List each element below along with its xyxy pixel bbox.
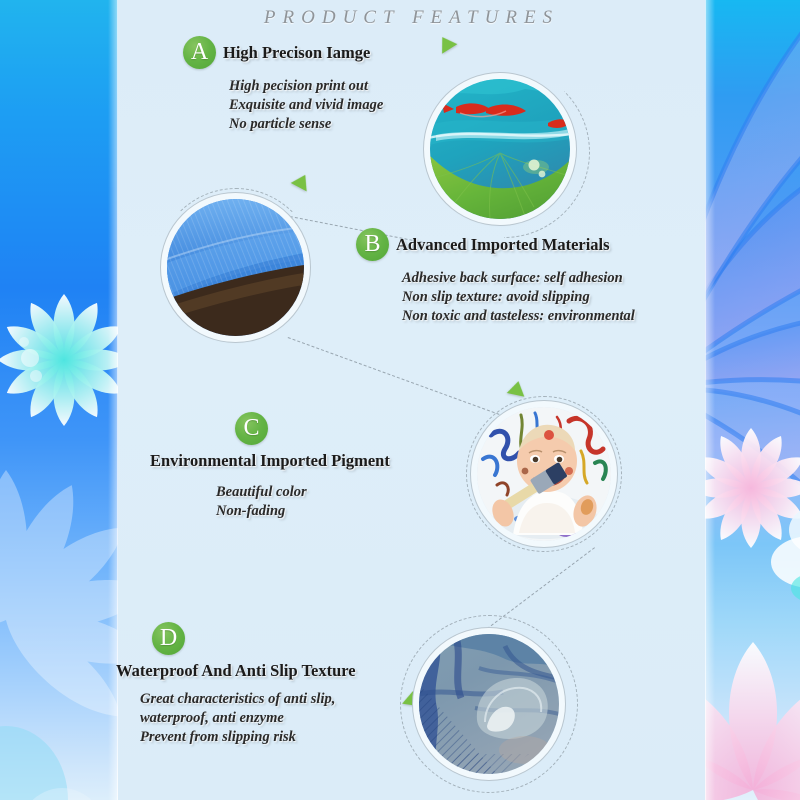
baby-with-paintbrush-photo	[477, 407, 611, 541]
blue-fabric-texture-photo	[167, 199, 304, 336]
pink-flower-ornament	[705, 388, 800, 588]
right-decorative-band	[705, 0, 800, 800]
feature-b-title: Advanced Imported Materials	[396, 235, 610, 255]
feature-image-d	[419, 634, 559, 774]
feature-image-c	[477, 407, 611, 541]
feature-a-heading: A High Precison Iamge	[183, 36, 383, 69]
feature-d-line-3: Prevent from slipping risk	[140, 728, 356, 747]
feature-d-bullets: Great characteristics of anti slip, wate…	[140, 690, 356, 747]
feature-badge-d: D	[152, 622, 185, 655]
product-features-poster: PRODUCT FEATURES	[0, 0, 800, 800]
feature-badge-b: B	[356, 228, 389, 261]
page-title: PRODUCT FEATURES	[118, 7, 705, 29]
feature-d-line-2: waterproof, anti enzyme	[140, 709, 356, 728]
feature-block-b: B Advanced Imported Materials Adhesive b…	[356, 228, 635, 326]
feature-c-bullets: Beautiful color Non-fading	[216, 483, 390, 521]
left-decorative-band	[0, 0, 118, 800]
white-pebble-ornament	[753, 470, 800, 620]
feature-b-bullets: Adhesive back surface: self adhesion Non…	[402, 269, 635, 326]
right-bottom-flower-ornament	[705, 560, 800, 800]
cyan-flower-ornament	[0, 232, 118, 492]
feature-c-title: Environmental Imported Pigment	[150, 451, 390, 471]
feature-c-line-1: Beautiful color	[216, 483, 390, 502]
feature-block-a: A High Precison Iamge High pecision prin…	[183, 36, 383, 134]
feature-image-a	[430, 79, 570, 219]
koi-fish-lotus-print-photo	[430, 79, 570, 219]
right-large-petal-ornament	[705, 0, 800, 520]
feature-b-line-1: Adhesive back surface: self adhesion	[402, 269, 635, 288]
left-bottom-leaf-ornament	[0, 690, 114, 800]
feature-a-bullets: High pecision print out Exquisite and vi…	[229, 77, 383, 134]
feature-d-title: Waterproof And Anti Slip Texture	[116, 661, 356, 681]
feature-badge-c: C	[235, 412, 268, 445]
feature-block-d: D Waterproof And Anti Slip Texture Great…	[116, 622, 356, 747]
feature-badge-a: A	[183, 36, 216, 69]
water-droplet-texture-photo	[419, 634, 559, 774]
feature-a-line-3: No particle sense	[229, 115, 383, 134]
feature-a-line-1: High pecision print out	[229, 77, 383, 96]
feature-c-line-2: Non-fading	[216, 502, 390, 521]
feature-d-line-1: Great characteristics of anti slip,	[140, 690, 356, 709]
feature-b-line-3: Non toxic and tasteless: environmental	[402, 307, 635, 326]
left-large-petal-ornament	[0, 415, 118, 800]
feature-a-title: High Precison Iamge	[223, 43, 370, 63]
feature-b-line-2: Non slip texture: avoid slipping	[402, 288, 635, 307]
feature-block-c: C Environmental Imported Pigment Beautif…	[150, 412, 390, 521]
feature-image-b	[167, 199, 304, 336]
feature-b-heading: B Advanced Imported Materials	[356, 228, 635, 261]
feature-a-line-2: Exquisite and vivid image	[229, 96, 383, 115]
